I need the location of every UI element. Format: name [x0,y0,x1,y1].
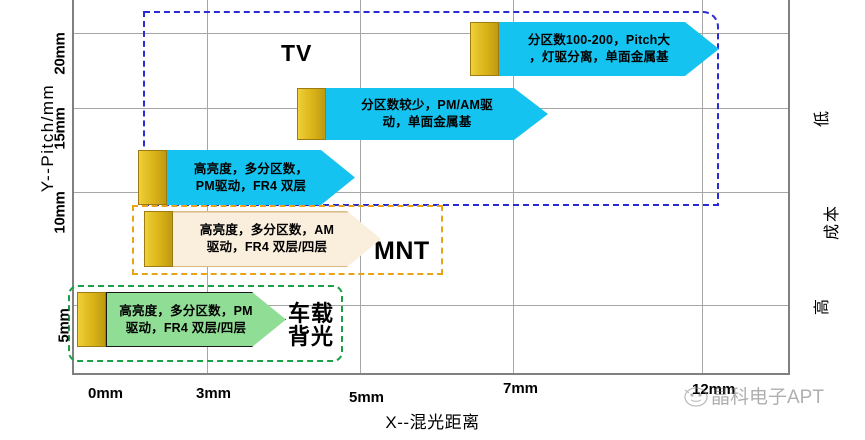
arrow-label: 分区数较少，PM/AM驱 动，单面金属基 [361,97,513,131]
x-tick-3mm: 3mm [196,385,231,402]
arrow-car-5mm[interactable]: 高亮度，多分区数，PM 驱动，FR4 双层/四层 [106,292,286,347]
arrow-label: 高亮度，多分区数， PM驱动，FR4 双层 [194,161,328,195]
chip-swatch [144,211,173,267]
x-tick-0mm: 0mm [88,385,123,402]
x-tick-7mm: 7mm [503,380,538,397]
x-axis-title: X--混光距离 [0,408,865,433]
arrow-tv-11mm[interactable]: 高亮度，多分区数， PM驱动，FR4 双层 [167,150,355,205]
arrow-mnt-8mm[interactable]: 高亮度，多分区数，AM 驱动，FR4 双层/四层 [173,211,381,267]
cost-label-axis: 成本 [818,180,842,240]
arrow-label: 高亮度，多分区数，PM 驱动，FR4 双层/四层 [119,303,272,337]
x-tick-5mm: 5mm [349,389,384,406]
bar-row-tv-11mm[interactable]: 高亮度，多分区数， PM驱动，FR4 双层 [138,150,355,205]
y-tick-5mm: 5mm [56,301,73,351]
cost-label-low: 低 [808,87,832,127]
region-label-tv: TV [281,41,312,65]
watermark-logo-icon [683,384,709,408]
region-label-car: 车载 背光 [288,302,334,348]
bar-row-mnt-8mm[interactable]: 高亮度，多分区数，AM 驱动，FR4 双层/四层 [144,211,381,267]
chip-swatch [470,22,499,76]
y-tick-10mm: 10mm [52,188,69,238]
watermark-text: 晶科电子APT [711,382,824,409]
chip-swatch [138,150,167,205]
watermark: 晶科电子APT [683,382,824,409]
bar-row-tv-20mm[interactable]: 分区数100-200，Pitch大 ，灯驱分离，单面金属基 [470,22,719,76]
arrow-tv-15mm[interactable]: 分区数较少，PM/AM驱 动，单面金属基 [326,88,548,140]
plot-area: TV MNT 车载 背光 分区数100-200，Pitch大 ，灯驱分离，单面金… [72,0,790,375]
region-label-mnt: MNT [374,238,430,264]
x-axis-line [72,373,790,375]
arrow-tv-20mm[interactable]: 分区数100-200，Pitch大 ，灯驱分离，单面金属基 [499,22,719,76]
y-tick-20mm: 20mm [52,29,69,79]
chart-canvas: TV MNT 车载 背光 分区数100-200，Pitch大 ，灯驱分离，单面金… [0,0,865,440]
bar-row-car-5mm[interactable]: 高亮度，多分区数，PM 驱动，FR4 双层/四层 [77,292,286,347]
arrow-border [173,211,381,267]
arrow-label: 分区数100-200，Pitch大 ，灯驱分离，单面金属基 [528,32,690,66]
chip-swatch [77,292,106,347]
chip-swatch [297,88,326,140]
bar-row-tv-15mm[interactable]: 分区数较少，PM/AM驱 动，单面金属基 [297,88,548,140]
y-axis-title: Y--Pitch/mm [38,84,58,192]
cost-label-high: 高 [808,275,832,315]
right-axis-line [788,0,790,375]
